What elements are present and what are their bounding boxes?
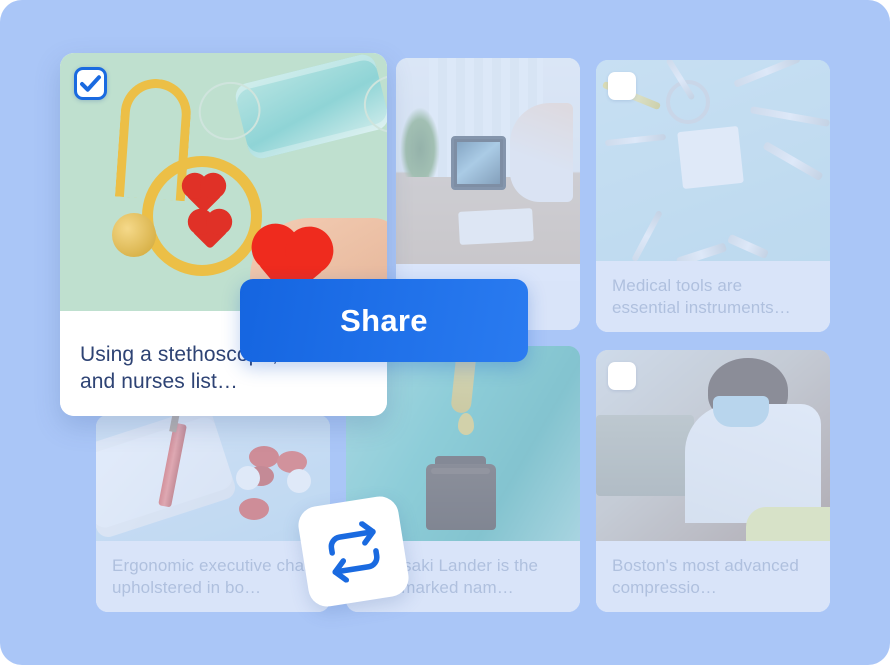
media-card-syringe[interactable]: Ergonomic executive chair upholstered in… <box>96 415 330 612</box>
card-caption: Ergonomic executive chair upholstered in… <box>96 541 330 612</box>
card-image-featured <box>60 53 387 311</box>
media-card-tools[interactable]: Medical tools are essential instruments… <box>596 60 830 332</box>
card-caption: Boston's most advanced compressio… <box>596 541 830 612</box>
repost-badge[interactable] <box>296 494 412 610</box>
card-image-syringe <box>96 415 330 543</box>
repost-icon <box>320 518 386 584</box>
card-checkbox-dentist[interactable] <box>608 362 636 390</box>
check-icon <box>77 70 104 97</box>
card-checkbox-featured[interactable] <box>74 67 107 100</box>
media-card-dentist[interactable]: Boston's most advanced compressio… <box>596 350 830 612</box>
media-picker-panel: re… Medical tools are essential instrume… <box>0 0 890 665</box>
card-checkbox-tools[interactable] <box>608 72 636 100</box>
card-caption: Medical tools are essential instruments… <box>596 261 830 332</box>
card-image-desk <box>396 58 580 264</box>
share-button[interactable]: Share <box>240 279 528 362</box>
